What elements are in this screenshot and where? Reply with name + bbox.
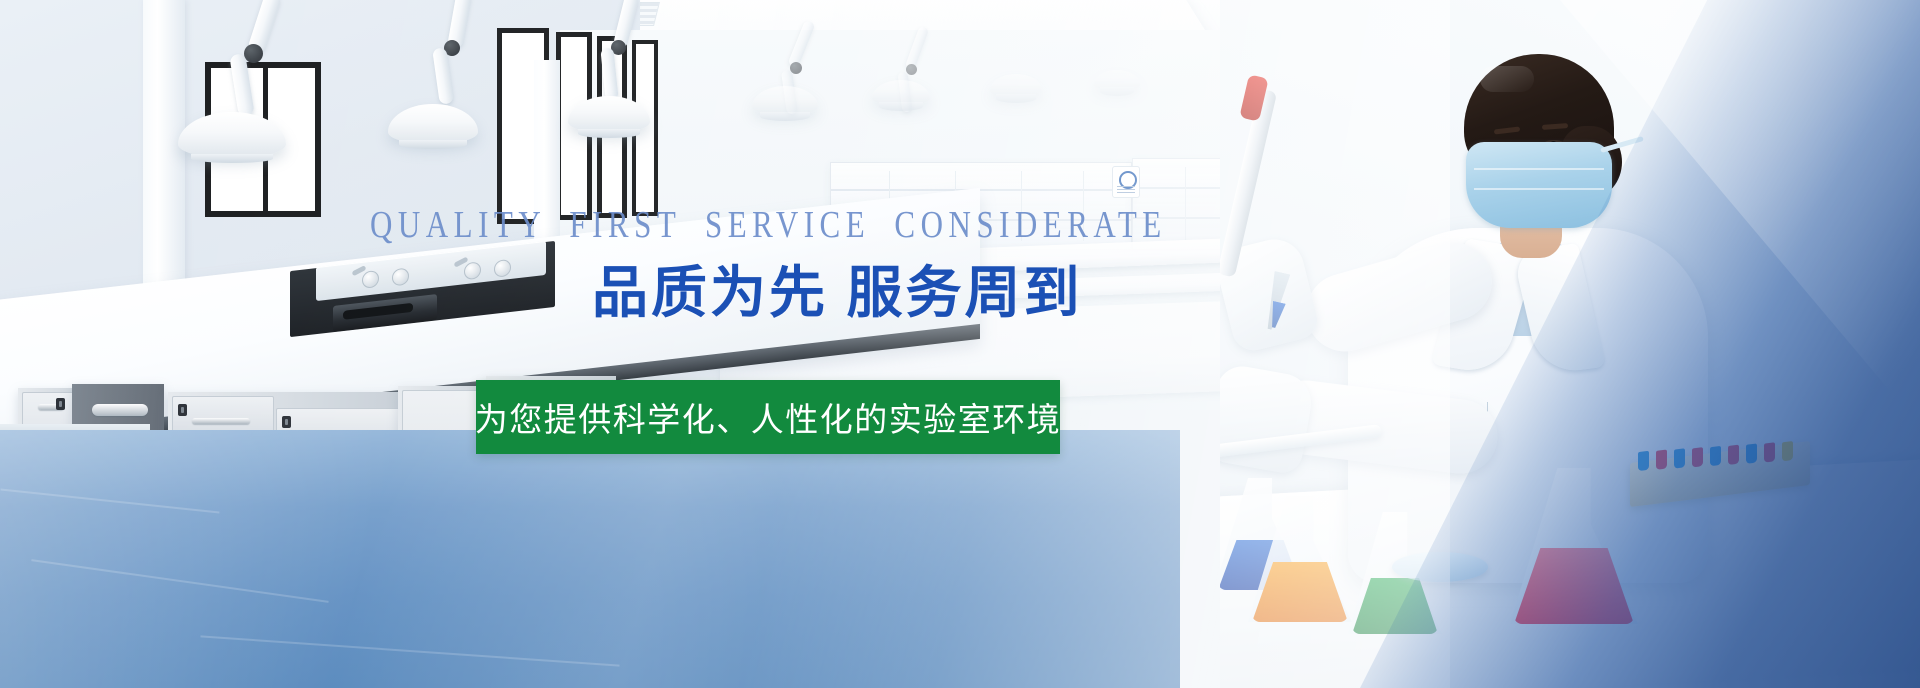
pcr-tube	[1782, 441, 1793, 461]
cabinet-handle	[92, 404, 148, 416]
shelf-label-icon	[1112, 166, 1140, 198]
pcr-tube	[1674, 448, 1685, 468]
lab-scene	[0, 0, 1920, 688]
english-tagline: QUALITY FIRST SERVICE CONSIDERATE	[370, 203, 1167, 247]
hair-highlight	[1480, 66, 1534, 92]
green-subtitle-bar: 为您提供科学化、人性化的实验室环境	[476, 380, 1060, 454]
pcr-tube	[1728, 445, 1739, 465]
chinese-headline: 品质为先 服务周到	[592, 248, 1083, 329]
pcr-tube	[1692, 447, 1703, 467]
hero-banner: QUALITY FIRST SERVICE CONSIDERATE 品质为先 服…	[0, 0, 1920, 688]
pcr-tube	[1764, 442, 1775, 462]
pcr-tube	[1638, 451, 1649, 471]
drawer-lock-icon	[178, 404, 187, 416]
pcr-tube	[1656, 450, 1667, 470]
petri-dish	[1392, 552, 1488, 582]
cabinet-lock-icon	[56, 398, 65, 410]
face-mask	[1466, 142, 1612, 228]
pcr-tube	[1710, 446, 1721, 466]
green-subtitle-text: 为您提供科学化、人性化的实验室环境	[475, 393, 1062, 441]
drawer-lock-icon	[282, 416, 291, 428]
scientist-photo	[1220, 0, 1920, 688]
drawer-handle	[192, 418, 250, 424]
pcr-tube	[1746, 443, 1757, 463]
vinyl-floor	[0, 430, 1180, 688]
